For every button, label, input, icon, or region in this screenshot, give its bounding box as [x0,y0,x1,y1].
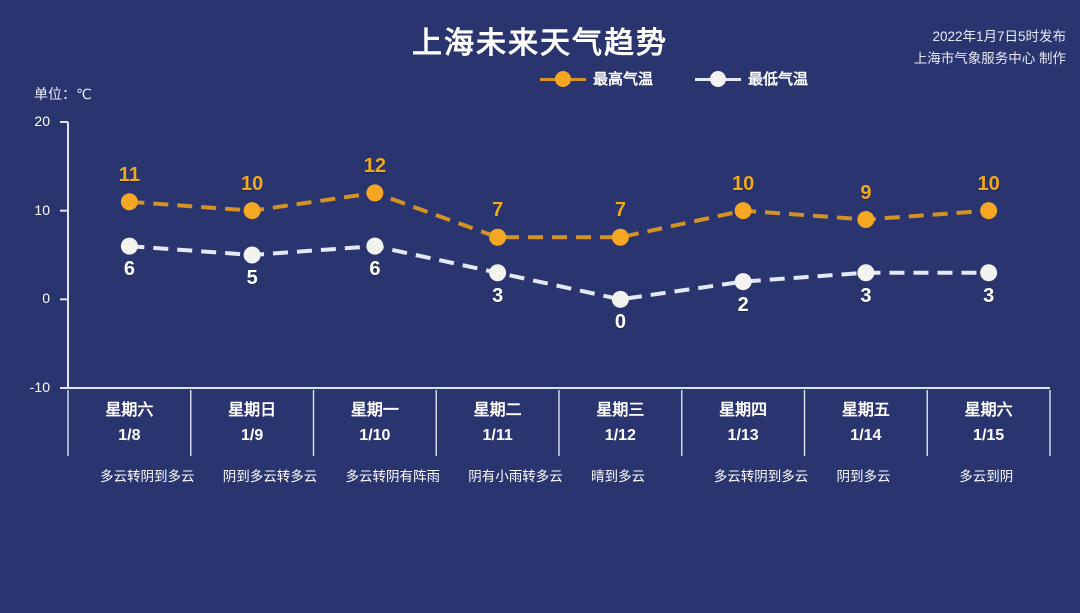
day-column-3[interactable]: 星期一1/10 [314,398,437,448]
high-temp-value: 7 [590,199,650,222]
day-date: 1/8 [68,423,191,448]
low-temp-point [857,264,874,281]
low-temp-point [735,273,752,290]
day-column-6[interactable]: 星期四1/13 [682,398,805,448]
day-column-4[interactable]: 星期二1/11 [436,398,559,448]
low-temp-value: 3 [959,285,1019,308]
high-temp-point [489,229,506,246]
day-date: 1/12 [559,423,682,448]
day-name: 星期六 [927,398,1050,423]
y-axis-tick-label: 10 [10,202,50,218]
high-temp-point [244,202,261,219]
day-date: 1/9 [191,423,314,448]
day-weather-description: 多云转阴到多云 [100,466,201,488]
high-temp-value: 9 [836,182,896,205]
low-temp-value: 0 [590,311,650,334]
day-date: 1/13 [682,423,805,448]
day-weather-description: 晴到多云 [591,466,692,488]
day-date: 1/11 [436,423,559,448]
day-name: 星期三 [559,398,682,423]
high-temp-point [980,202,997,219]
high-temp-point [121,193,138,210]
day-date: 1/10 [314,423,437,448]
day-name: 星期六 [68,398,191,423]
day-column-5[interactable]: 星期三1/12 [559,398,682,448]
low-temp-point [244,247,261,264]
low-temp-point [612,291,629,308]
low-temp-point [980,264,997,281]
day-name: 星期一 [314,398,437,423]
high-temp-value: 10 [713,173,773,196]
high-temp-value: 10 [959,173,1019,196]
day-weather-description: 阴有小雨转多云 [468,466,569,488]
y-axis-tick-label: -10 [10,379,50,395]
high-temp-value: 12 [345,155,405,178]
low-temp-value: 6 [99,258,159,281]
day-column-7[interactable]: 星期五1/14 [805,398,928,448]
high-temp-point [857,211,874,228]
day-name: 星期日 [191,398,314,423]
day-name: 星期二 [436,398,559,423]
day-date: 1/15 [927,423,1050,448]
chart-plot-area [0,0,1080,613]
day-column-8[interactable]: 星期六1/15 [927,398,1050,448]
low-temp-value: 6 [345,258,405,281]
weather-trend-chart: 上海未来天气趋势 2022年1月7日5时发布 上海市气象服务中心 制作 最高气温… [0,0,1080,613]
low-temp-point [121,238,138,255]
day-weather-description: 阴到多云转多云 [223,466,324,488]
day-weather-description: 多云到阴 [959,466,1060,488]
day-weather-description: 多云转阴到多云 [714,466,815,488]
low-temp-value: 5 [222,267,282,290]
day-date: 1/14 [805,423,928,448]
day-column-1[interactable]: 星期六1/8 [68,398,191,448]
high-temp-value: 11 [99,164,159,187]
low-temp-value: 2 [713,294,773,317]
high-temp-point [735,202,752,219]
low-temp-value: 3 [836,285,896,308]
y-axis-tick-label: 20 [10,113,50,129]
low-temp-point [489,264,506,281]
day-name: 星期五 [805,398,928,423]
day-column-2[interactable]: 星期日1/9 [191,398,314,448]
high-temp-point [612,229,629,246]
high-temp-point [366,184,383,201]
high-temp-value: 10 [222,173,282,196]
day-name: 星期四 [682,398,805,423]
day-weather-description: 阴到多云 [837,466,938,488]
y-axis-tick-label: 0 [10,290,50,306]
day-weather-description: 多云转阴有阵雨 [346,466,447,488]
low-temp-point [366,238,383,255]
low-temp-value: 3 [468,285,528,308]
high-temp-value: 7 [468,199,528,222]
